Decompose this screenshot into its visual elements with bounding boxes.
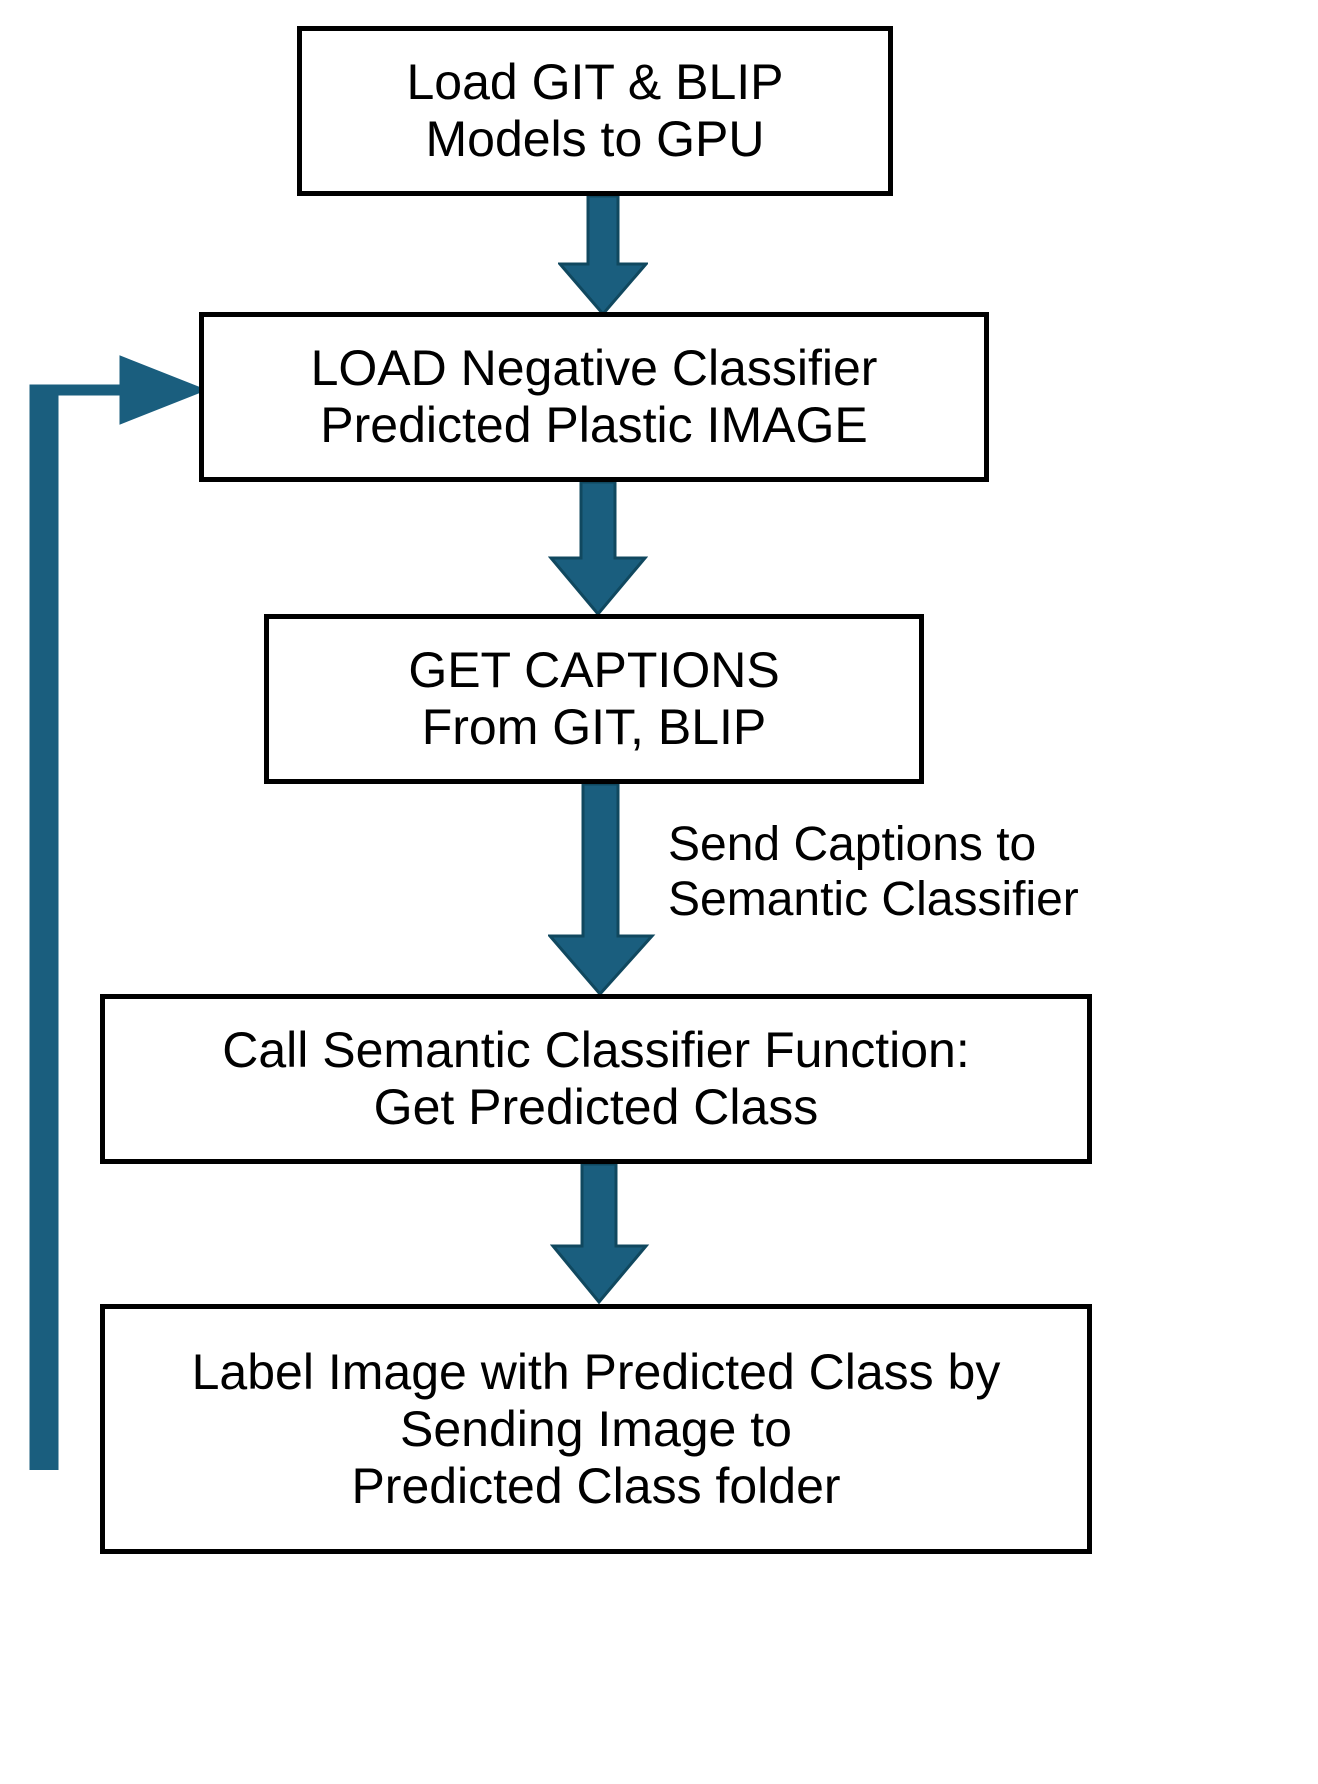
- node-label-image-line-1: Label Image with Predicted Class by: [192, 1344, 1001, 1401]
- edge-label-send-captions: Send Captions to Semantic Classifier: [668, 818, 1079, 927]
- node-load-models-line-1: Load GIT & BLIP: [406, 54, 783, 111]
- edge-label-send-captions-line-1: Send Captions to: [668, 818, 1079, 873]
- edge-label-send-captions-line-2: Semantic Classifier: [668, 873, 1079, 928]
- node-call-semantic-line-2: Get Predicted Class: [374, 1079, 819, 1136]
- node-label-image-line-3: Predicted Class folder: [351, 1458, 840, 1515]
- flowchart-canvas: Load GIT & BLIP Models to GPU LOAD Negat…: [0, 0, 1318, 1784]
- node-label-image[interactable]: Label Image with Predicted Class by Send…: [100, 1304, 1092, 1554]
- node-get-captions-line-2: From GIT, BLIP: [422, 699, 767, 756]
- node-load-models[interactable]: Load GIT & BLIP Models to GPU: [297, 26, 893, 196]
- node-call-semantic[interactable]: Call Semantic Classifier Function: Get P…: [100, 994, 1092, 1164]
- edge-arrow-load-models-to-load-image: [558, 196, 648, 316]
- node-get-captions-line-1: GET CAPTIONS: [408, 642, 779, 699]
- node-load-image-line-1: LOAD Negative Classifier: [311, 340, 878, 397]
- node-label-image-line-2: Sending Image to: [400, 1401, 792, 1458]
- node-load-image[interactable]: LOAD Negative Classifier Predicted Plast…: [199, 312, 989, 482]
- node-call-semantic-line-1: Call Semantic Classifier Function:: [222, 1022, 970, 1079]
- edge-feedback-loop-arrow: [0, 340, 240, 1470]
- edge-arrow-get-captions-to-call-semantic: [548, 784, 658, 996]
- edge-arrow-call-semantic-to-label-image: [550, 1164, 650, 1304]
- node-load-models-line-2: Models to GPU: [425, 111, 764, 168]
- node-get-captions[interactable]: GET CAPTIONS From GIT, BLIP: [264, 614, 924, 784]
- node-load-image-line-2: Predicted Plastic IMAGE: [320, 397, 867, 454]
- edge-arrow-load-image-to-get-captions: [548, 482, 648, 616]
